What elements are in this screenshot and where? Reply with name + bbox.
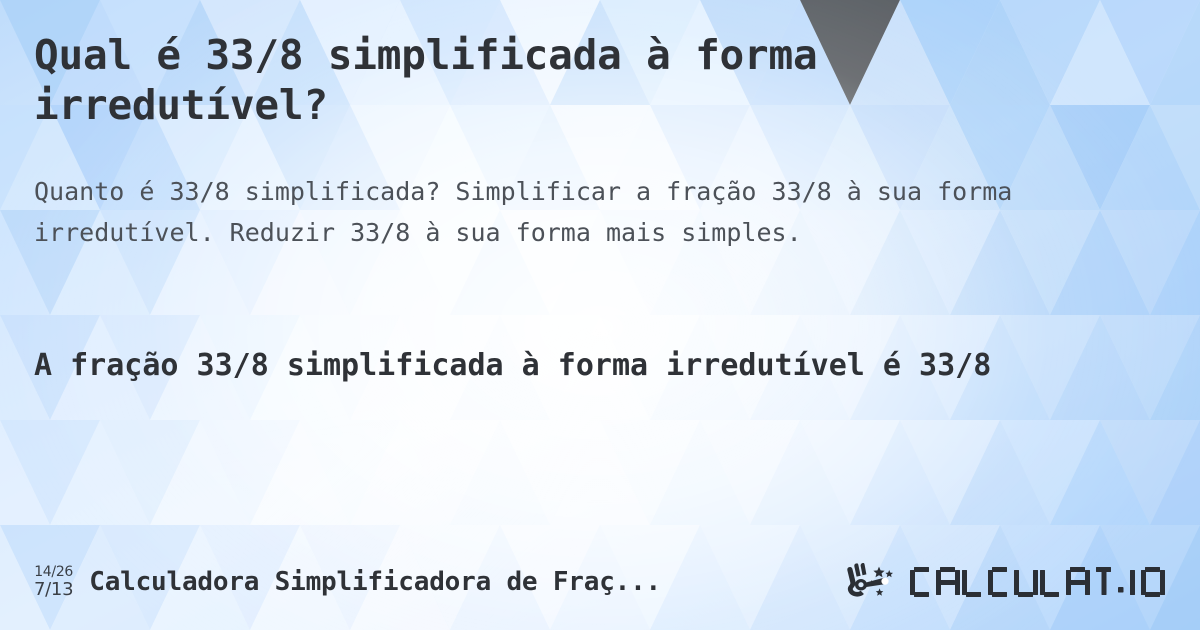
brand-wordmark [908,564,1170,600]
badge-bottom-fraction: 7/13 [34,581,73,599]
answer-statement: A fração 33/8 simplificada à forma irred… [34,343,1164,388]
page-title: Qual é 33/8 simplificada à forma irredut… [34,30,1044,130]
badge-top-fraction: 14/26 [34,565,73,579]
og-image-canvas: Qual é 33/8 simplificada à forma irredut… [0,0,1200,630]
content-layer: Qual é 33/8 simplificada à forma irredut… [0,0,1200,630]
fraction-reduce-icon: 14/26 7/13 [34,565,73,599]
site-name: Calculadora Simplificadora de Fraç... [89,567,661,597]
magic-wand-hand-icon [844,561,902,603]
page-subtitle: Quanto é 33/8 simplificada? Simplificar … [34,172,1174,253]
footer-bar: 14/26 7/13 Calculadora Simplificadora de… [0,556,1200,608]
brand-logo[interactable] [844,561,1170,603]
